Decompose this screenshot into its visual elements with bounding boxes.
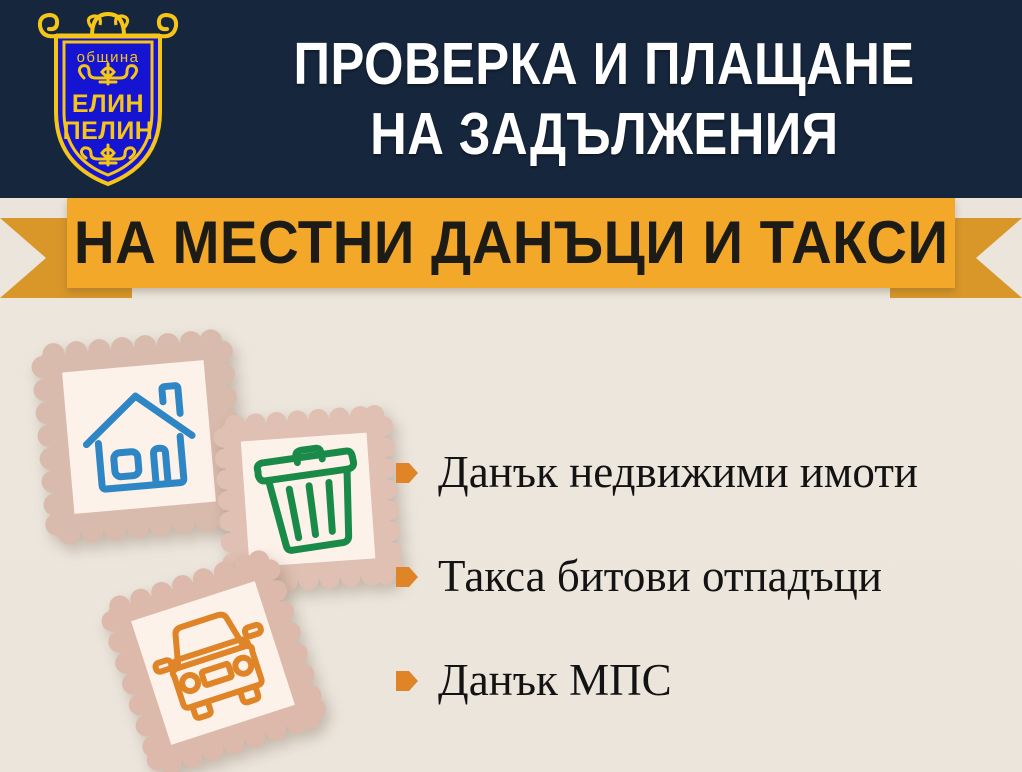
stamp-card-car	[88, 538, 338, 772]
bullet-arrow-icon	[396, 669, 418, 693]
ribbon-subtitle: НА МЕСТНИ ДАНЪЦИ И ТАКСИ	[74, 212, 949, 274]
poster-root: община ЕЛИН ПЕЛИН	[0, 0, 1022, 772]
bullet-arrow-icon	[396, 461, 418, 485]
ribbon-band: НА МЕСТНИ ДАНЪЦИ И ТАКСИ	[67, 198, 955, 288]
list-item: Данък недвижими имоти	[396, 420, 1016, 524]
title-line-2: НА ЗАДЪЛЖЕНИЯ	[370, 99, 838, 169]
tax-type-list: Данък недвижими имоти Такса битови отпад…	[396, 420, 1016, 732]
page-title: ПРОВЕРКА И ПЛАЩАНЕ НА ЗАДЪЛЖЕНИЯ	[192, 0, 1016, 198]
title-line-1: ПРОВЕРКА И ПЛАЩАНЕ	[293, 29, 914, 99]
list-item-label: Данък МПС	[438, 655, 672, 705]
header-bar: община ЕЛИН ПЕЛИН	[0, 0, 1022, 198]
list-item: Такса битови отпадъци	[396, 524, 1016, 628]
crest-name-line-1: ЕЛИН	[72, 90, 144, 118]
bullet-arrow-icon	[396, 565, 418, 589]
municipality-crest-logo: община ЕЛИН ПЕЛИН	[32, 8, 184, 190]
crest-name-line-2: ПЕЛИН	[63, 117, 154, 145]
list-item-label: Данък недвижими имоти	[438, 447, 918, 497]
list-item-label: Такса битови отпадъци	[438, 551, 882, 601]
list-item: Данък МПС	[396, 628, 1016, 732]
ribbon-banner: НА МЕСТНИ ДАНЪЦИ И ТАКСИ	[0, 198, 1022, 302]
stamp-car-svg	[88, 538, 338, 772]
crest-svg: община ЕЛИН ПЕЛИН	[32, 8, 184, 190]
